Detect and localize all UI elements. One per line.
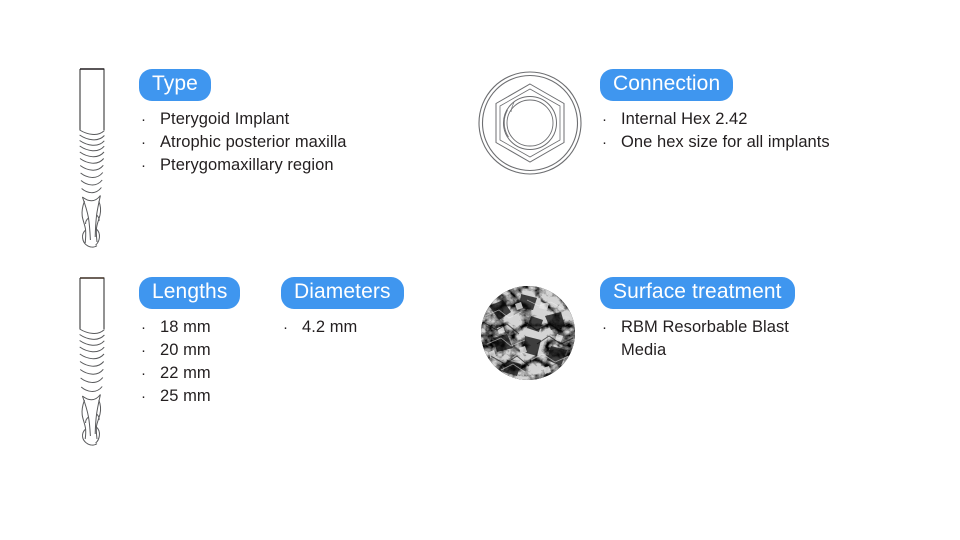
surface-treatment-bullet-list: · RBM Resorbable Blast Media (600, 316, 826, 362)
bullet-dot-icon: · (281, 316, 302, 339)
surface-texture-image (481, 286, 575, 380)
type-bullet-list: · Pterygoid Implant · Atrophic posterior… (139, 108, 347, 177)
list-item: · One hex size for all implants (600, 131, 830, 154)
bullet-dot-icon: · (600, 131, 621, 154)
bullet-dot-icon: · (139, 316, 160, 339)
list-item-label: Pterygoid Implant (160, 108, 347, 131)
bullet-dot-icon: · (600, 316, 621, 339)
slide-canvas: Type · Pterygoid Implant · Atrophic post… (0, 0, 960, 540)
type-badge: Type (139, 69, 211, 101)
bullet-dot-icon: · (600, 108, 621, 131)
lengths-bullet-list: · 18 mm · 20 mm · 22 mm · 25 mm (139, 316, 240, 408)
implant-screw-icon (74, 68, 110, 255)
lengths-section: Lengths · 18 mm · 20 mm · 22 mm · 25 mm (139, 277, 240, 408)
list-item-label: RBM Resorbable Blast Media (621, 316, 826, 362)
diameters-bullet-list: · 4.2 mm (281, 316, 404, 339)
list-item: · 18 mm (139, 316, 240, 339)
list-item-label: 4.2 mm (302, 316, 404, 339)
list-item: · Pterygomaxillary region (139, 154, 347, 177)
list-item: · 22 mm (139, 362, 240, 385)
surface-treatment-badge: Surface treatment (600, 277, 795, 309)
list-item-label: 18 mm (160, 316, 240, 339)
list-item: · RBM Resorbable Blast Media (600, 316, 826, 362)
bullet-dot-icon: · (139, 154, 160, 177)
list-item-label: 20 mm (160, 339, 240, 362)
hex-connection-icon (477, 70, 583, 181)
diameters-badge: Diameters (281, 277, 404, 309)
list-item-label: 25 mm (160, 385, 240, 408)
list-item: · Internal Hex 2.42 (600, 108, 830, 131)
lengths-badge: Lengths (139, 277, 240, 309)
list-item: · 20 mm (139, 339, 240, 362)
bullet-dot-icon: · (139, 339, 160, 362)
bullet-dot-icon: · (139, 108, 160, 131)
list-item-label: 22 mm (160, 362, 240, 385)
bullet-dot-icon: · (139, 362, 160, 385)
bullet-dot-icon: · (139, 131, 160, 154)
connection-badge: Connection (600, 69, 733, 101)
list-item-label: One hex size for all implants (621, 131, 830, 154)
list-item-label: Pterygomaxillary region (160, 154, 347, 177)
connection-bullet-list: · Internal Hex 2.42 · One hex size for a… (600, 108, 830, 154)
list-item: · Pterygoid Implant (139, 108, 347, 131)
diameters-section: Diameters · 4.2 mm (281, 277, 404, 339)
connection-section: Connection · Internal Hex 2.42 · One hex… (600, 69, 830, 154)
type-section: Type · Pterygoid Implant · Atrophic post… (139, 69, 347, 177)
implant-screw-icon (74, 277, 110, 452)
list-item-label: Atrophic posterior maxilla (160, 131, 347, 154)
list-item: · 25 mm (139, 385, 240, 408)
list-item: · 4.2 mm (281, 316, 404, 339)
list-item: · Atrophic posterior maxilla (139, 131, 347, 154)
list-item-label: Internal Hex 2.42 (621, 108, 830, 131)
surface-treatment-section: Surface treatment · RBM Resorbable Blast… (600, 277, 826, 362)
bullet-dot-icon: · (139, 385, 160, 408)
